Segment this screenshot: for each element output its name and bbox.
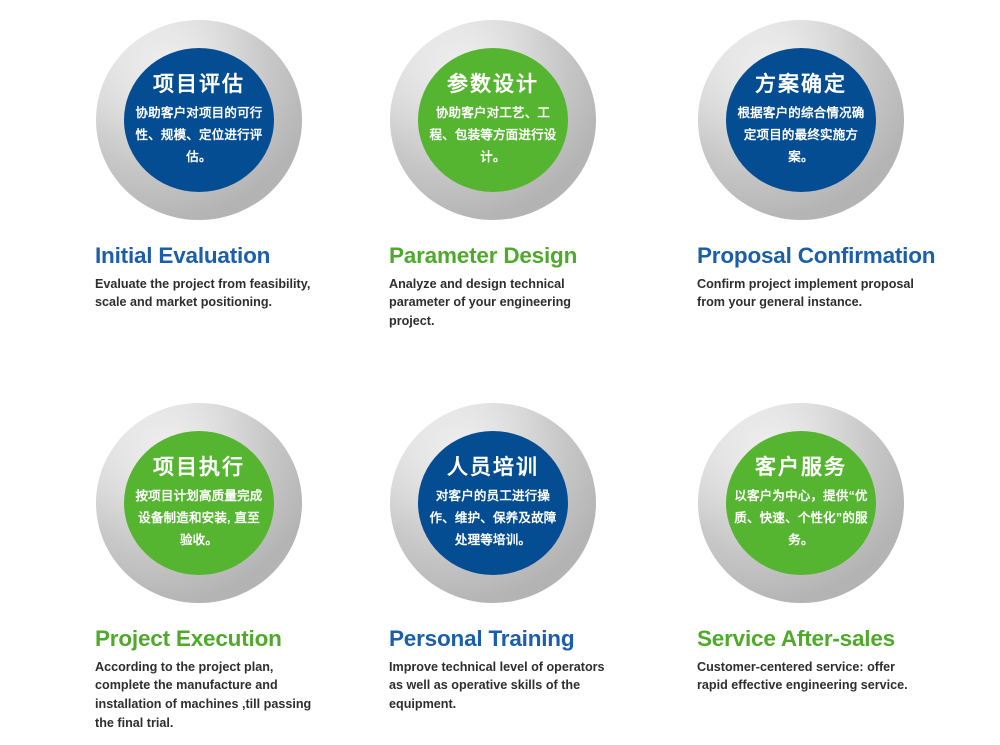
step-card-proposal-confirmation: 方案确定 根据客户的综合情况确定项目的最终实施方案。 Proposal Conf…	[697, 20, 997, 312]
step-english-description: According to the project plan, complete …	[95, 658, 315, 733]
step-english-title: Proposal Confirmation	[697, 244, 997, 269]
step-card-service-after-sales: 客户服务 以客户为中心，提供“优质、快速、个性化”的服务。 Service Af…	[697, 403, 997, 695]
step-circle-personal-training: 人员培训 对客户的员工进行操作、维护、保养及故障处理等培训。	[390, 403, 596, 603]
step-circle-initial-evaluation: 项目评估 协助客户对项目的可行性、规模、定位进行评估。	[96, 20, 302, 220]
circle-disc: 参数设计 协助客户对工艺、工程、包装等方面进行设计。	[418, 48, 568, 192]
step-english-title: Personal Training	[389, 627, 689, 652]
circle-disc: 方案确定 根据客户的综合情况确定项目的最终实施方案。	[726, 48, 876, 192]
circle-chinese-description: 根据客户的综合情况确定项目的最终实施方案。	[734, 103, 868, 169]
step-circle-parameter-design: 参数设计 协助客户对工艺、工程、包装等方面进行设计。	[390, 20, 596, 220]
step-caption: Parameter Design Analyze and design tech…	[389, 244, 689, 331]
step-circle-service-after-sales: 客户服务 以客户为中心，提供“优质、快速、个性化”的服务。	[698, 403, 904, 603]
step-english-description: Confirm project implement proposal from …	[697, 275, 927, 312]
step-english-title: Project Execution	[95, 627, 395, 652]
step-english-description: Improve technical level of operators as …	[389, 658, 609, 714]
step-card-initial-evaluation: 项目评估 协助客户对项目的可行性、规模、定位进行评估。 Initial Eval…	[95, 20, 395, 312]
circle-chinese-description: 协助客户对项目的可行性、规模、定位进行评估。	[132, 103, 266, 169]
step-english-title: Parameter Design	[389, 244, 689, 269]
circle-disc: 人员培训 对客户的员工进行操作、维护、保养及故障处理等培训。	[418, 431, 568, 575]
circle-chinese-description: 以客户为中心，提供“优质、快速、个性化”的服务。	[734, 486, 868, 552]
step-caption: Proposal Confirmation Confirm project im…	[697, 244, 997, 312]
step-english-description: Evaluate the project from feasibility, s…	[95, 275, 315, 312]
circle-chinese-title: 客户服务	[755, 455, 847, 480]
step-english-title: Initial Evaluation	[95, 244, 395, 269]
circle-chinese-title: 项目执行	[153, 455, 245, 480]
step-circle-proposal-confirmation: 方案确定 根据客户的综合情况确定项目的最终实施方案。	[698, 20, 904, 220]
step-caption: Service After-sales Customer-centered se…	[697, 627, 997, 695]
circle-chinese-description: 对客户的员工进行操作、维护、保养及故障处理等培训。	[426, 486, 560, 552]
step-english-description: Customer-centered service: offer rapid e…	[697, 658, 927, 695]
step-card-parameter-design: 参数设计 协助客户对工艺、工程、包装等方面进行设计。 Parameter Des…	[389, 20, 689, 331]
circle-chinese-description: 按项目计划高质量完成设备制造和安装, 直至验收。	[132, 486, 266, 552]
circle-chinese-title: 人员培训	[447, 455, 539, 480]
step-card-project-execution: 项目执行 按项目计划高质量完成设备制造和安装, 直至验收。 Project Ex…	[95, 403, 395, 732]
step-caption: Initial Evaluation Evaluate the project …	[95, 244, 395, 312]
step-card-personal-training: 人员培训 对客户的员工进行操作、维护、保养及故障处理等培训。 Personal …	[389, 403, 689, 714]
circle-chinese-title: 参数设计	[447, 72, 539, 97]
circle-chinese-title: 方案确定	[755, 72, 847, 97]
step-caption: Personal Training Improve technical leve…	[389, 627, 689, 714]
circle-chinese-description: 协助客户对工艺、工程、包装等方面进行设计。	[426, 103, 560, 169]
process-steps-board: 项目评估 协助客户对项目的可行性、规模、定位进行评估。 Initial Eval…	[0, 0, 1000, 745]
step-english-title: Service After-sales	[697, 627, 997, 652]
circle-disc: 项目执行 按项目计划高质量完成设备制造和安装, 直至验收。	[124, 431, 274, 575]
step-english-description: Analyze and design technical parameter o…	[389, 275, 609, 331]
step-caption: Project Execution According to the proje…	[95, 627, 395, 732]
circle-disc: 客户服务 以客户为中心，提供“优质、快速、个性化”的服务。	[726, 431, 876, 575]
step-circle-project-execution: 项目执行 按项目计划高质量完成设备制造和安装, 直至验收。	[96, 403, 302, 603]
circle-disc: 项目评估 协助客户对项目的可行性、规模、定位进行评估。	[124, 48, 274, 192]
circle-chinese-title: 项目评估	[153, 72, 245, 97]
